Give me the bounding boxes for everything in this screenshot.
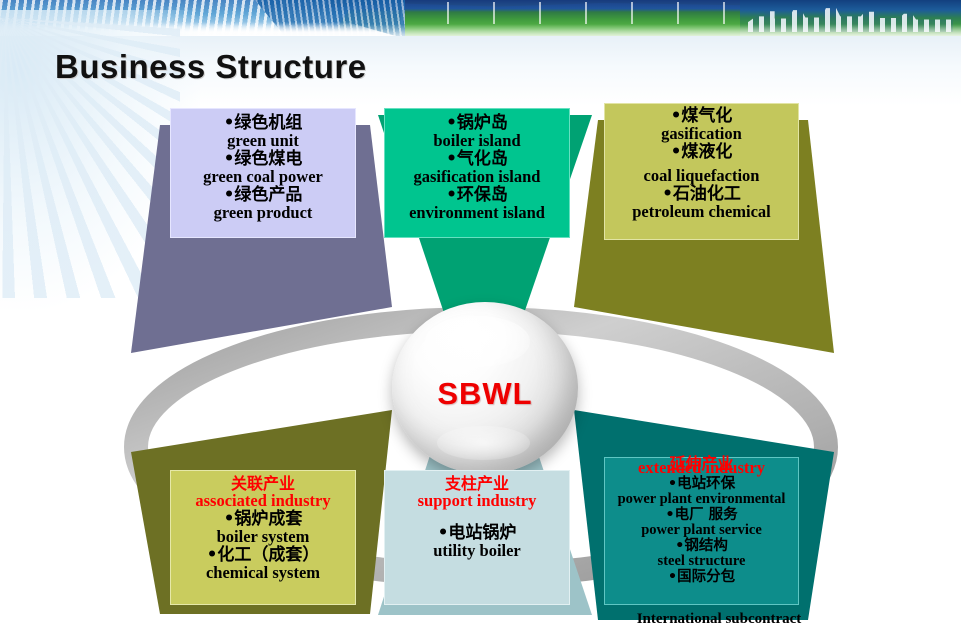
- box-line: coal liquefaction: [604, 167, 799, 185]
- box-line: •电站锅炉: [384, 524, 570, 542]
- box-line: •锅炉岛: [384, 114, 570, 132]
- green-unit-box-text: •绿色机组green unit•绿色煤电green coal power•绿色产…: [170, 114, 356, 221]
- box-line: steel structure: [604, 554, 799, 570]
- sphere-lower-highlight: [437, 426, 530, 460]
- box-line: environment island: [384, 204, 570, 222]
- international-subcontract-label: International subcontract: [604, 611, 834, 628]
- box-line: •绿色机组: [170, 114, 356, 132]
- box-line: •化工（成套）: [170, 546, 356, 564]
- boiler-island-box-text: •锅炉岛boiler island•气化岛gasification island…: [384, 114, 570, 221]
- center-label: SBWL: [392, 376, 578, 412]
- support-industry-box[interactable]: 支柱产业support industry•电站锅炉utility boiler: [384, 470, 570, 605]
- extended-industry-box[interactable]: extended industry•电站环保power plant enviro…: [604, 457, 799, 605]
- box-line: power plant service: [604, 523, 799, 539]
- box-heading-en: associated industry: [170, 492, 356, 510]
- box-line: •锅炉成套: [170, 510, 356, 528]
- box-line: green product: [170, 204, 356, 222]
- box-heading-en: support industry: [384, 492, 570, 510]
- box-line: •环保岛: [384, 186, 570, 204]
- extended-industry-heading-cn: 延伸产业: [604, 450, 799, 474]
- box-heading-cn: 关联产业: [170, 475, 356, 492]
- wind-turbines: [355, 2, 745, 24]
- box-heading-cn: 支柱产业: [384, 475, 570, 492]
- box-line: green coal power: [170, 168, 356, 186]
- box-line: gasification: [604, 125, 799, 143]
- green-unit-box[interactable]: •绿色机组green unit•绿色煤电green coal power•绿色产…: [170, 108, 356, 238]
- associated-industry-box-text: 关联产业associated industry•锅炉成套boiler syste…: [170, 475, 356, 581]
- page-title: Business Structure: [55, 48, 367, 86]
- support-industry-box-text: 支柱产业support industry•电站锅炉utility boiler: [384, 475, 570, 560]
- boiler-island-box[interactable]: •锅炉岛boiler island•气化岛gasification island…: [384, 108, 570, 238]
- box-line: •国际分包: [604, 570, 799, 586]
- gasification-box[interactable]: •煤气化gasification•煤液化coal liquefaction•石油…: [604, 103, 799, 240]
- box-line: •绿色煤电: [170, 150, 356, 168]
- box-line: chemical system: [170, 564, 356, 582]
- box-line: •煤液化: [604, 143, 799, 161]
- box-line: boiler system: [170, 528, 356, 546]
- header-banner: [0, 0, 961, 40]
- box-line: petroleum chemical: [604, 203, 799, 221]
- box-line: boiler island: [384, 132, 570, 150]
- box-line: •石油化工: [604, 185, 799, 203]
- business-structure-diagram: •绿色机组green unit•绿色煤电green coal power•绿色产…: [0, 95, 961, 632]
- box-line: gasification island: [384, 168, 570, 186]
- box-line: •气化岛: [384, 150, 570, 168]
- box-line: •电厂 服务: [604, 508, 799, 524]
- gasification-box-text: •煤气化gasification•煤液化coal liquefaction•石油…: [604, 107, 799, 220]
- spacer: [384, 510, 570, 524]
- center-sphere[interactable]: SBWL: [392, 302, 578, 474]
- box-line: •绿色产品: [170, 186, 356, 204]
- sphere-highlight: [425, 316, 529, 368]
- box-line: green unit: [170, 132, 356, 150]
- associated-industry-box[interactable]: 关联产业associated industry•锅炉成套boiler syste…: [170, 470, 356, 605]
- box-line: •钢结构: [604, 539, 799, 555]
- box-line: •电站环保: [604, 477, 799, 493]
- box-line: utility boiler: [384, 542, 570, 560]
- box-line: •煤气化: [604, 107, 799, 125]
- extended-industry-box-text: extended industry•电站环保power plant enviro…: [604, 459, 799, 585]
- box-line: power plant environmental: [604, 492, 799, 508]
